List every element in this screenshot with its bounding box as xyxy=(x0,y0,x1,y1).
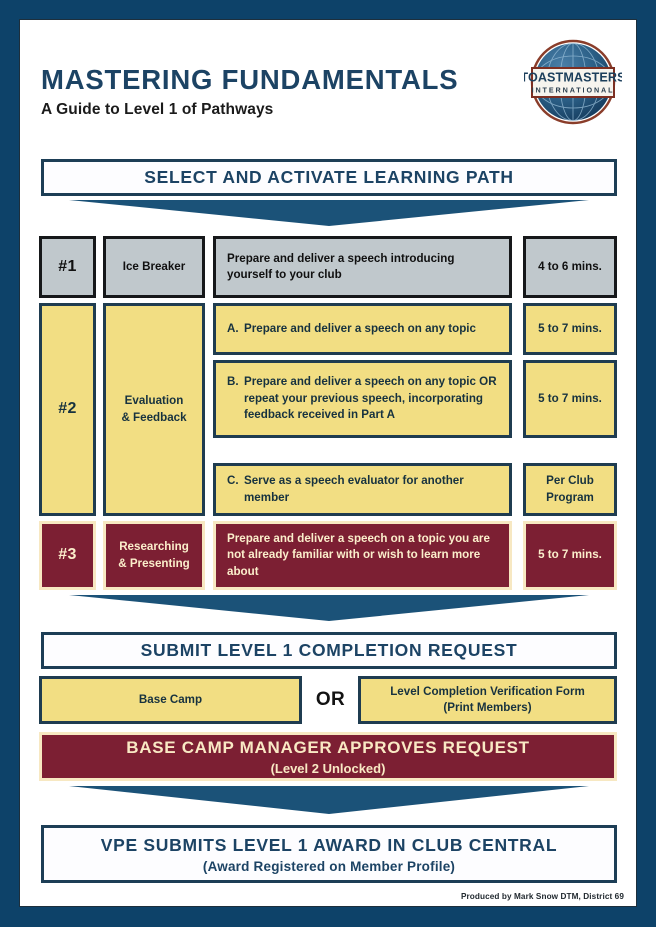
project-3-task-1-text: Prepare and deliver a speech on a topic … xyxy=(213,521,512,590)
logo-primary-text: TOASTMASTERS xyxy=(524,71,622,85)
project-2-task-C-duration-line1: Per Club xyxy=(546,473,594,489)
project-1-task-1-duration: 4 to 6 mins. xyxy=(523,236,617,298)
project-1-number: #1 xyxy=(39,236,96,298)
project-2-task-A-letter: A. xyxy=(227,321,244,337)
project-2-task-C: C. Serve as a speech evaluator for anoth… xyxy=(213,463,512,516)
project-1-name: Ice Breaker xyxy=(103,236,205,298)
project-2-number: #2 xyxy=(39,303,96,516)
project-2-task-C-letter: C. xyxy=(227,473,244,489)
project-3-task-1-duration: 5 to 7 mins. xyxy=(523,521,617,590)
banner-submit-request-label: SUBMIT LEVEL 1 COMPLETION REQUEST xyxy=(141,640,518,661)
project-2-name: Evaluation & Feedback xyxy=(103,303,205,516)
project-3-name-line2: & Presenting xyxy=(118,556,190,572)
page-title: MASTERING FUNDAMENTALS xyxy=(41,66,458,94)
banner-approve-line2: (Level 2 Unlocked) xyxy=(271,761,386,776)
arrow-down-2 xyxy=(69,595,589,621)
globe-icon: TOASTMASTERS INTERNATIONAL xyxy=(524,37,622,127)
arrow-down-3 xyxy=(69,786,589,814)
poster-header: MASTERING FUNDAMENTALS A Guide to Level … xyxy=(20,20,636,140)
submission-option-b-line2: (Print Members) xyxy=(390,700,585,716)
project-2-task-A: A. Prepare and deliver a speech on any t… xyxy=(213,303,512,355)
banner-approve-request: BASE CAMP MANAGER APPROVES REQUEST (Leve… xyxy=(39,732,617,781)
project-2-task-A-text: Prepare and deliver a speech on any topi… xyxy=(244,321,476,337)
project-2-task-B: B. Prepare and deliver a speech on any t… xyxy=(213,360,512,438)
project-2-task-A-duration: 5 to 7 mins. xyxy=(523,303,617,355)
title-block: MASTERING FUNDAMENTALS A Guide to Level … xyxy=(41,66,458,119)
banner-select-path: SELECT AND ACTIVATE LEARNING PATH xyxy=(41,159,617,196)
project-1-task-1-text: Prepare and deliver a speech introducing… xyxy=(213,236,512,298)
project-2-task-B-letter: B. xyxy=(227,374,244,390)
credit-line: Produced by Mark Snow DTM, District 69 xyxy=(461,892,624,901)
project-3-number: #3 xyxy=(39,521,96,590)
toastmasters-logo: TOASTMASTERS INTERNATIONAL xyxy=(524,37,622,127)
banner-vpe-line1: VPE SUBMITS LEVEL 1 AWARD IN CLUB CENTRA… xyxy=(101,835,558,856)
project-2-task-C-text: Serve as a speech evaluator for another … xyxy=(244,473,501,506)
poster-page: MASTERING FUNDAMENTALS A Guide to Level … xyxy=(19,19,637,907)
project-3-name: Researching & Presenting xyxy=(103,521,205,590)
project-2-task-C-duration: Per Club Program xyxy=(523,463,617,516)
arrow-down-1 xyxy=(69,200,589,226)
banner-submit-request: SUBMIT LEVEL 1 COMPLETION REQUEST xyxy=(41,632,617,669)
project-2-task-B-text: Prepare and deliver a speech on any topi… xyxy=(244,374,501,423)
submission-option-base-camp[interactable]: Base Camp xyxy=(39,676,302,724)
project-3-name-line1: Researching xyxy=(118,539,190,555)
banner-vpe-line2: (Award Registered on Member Profile) xyxy=(203,859,455,874)
submission-or-label: OR xyxy=(307,676,354,724)
logo-secondary-text: INTERNATIONAL xyxy=(532,86,615,95)
submission-option-b-line1: Level Completion Verification Form xyxy=(390,684,585,700)
banner-select-path-label: SELECT AND ACTIVATE LEARNING PATH xyxy=(144,167,514,188)
project-2-task-C-duration-line2: Program xyxy=(546,490,594,506)
project-2-name-line1: Evaluation xyxy=(121,393,186,409)
submission-option-verification-form[interactable]: Level Completion Verification Form (Prin… xyxy=(358,676,617,724)
infographic-poster: MASTERING FUNDAMENTALS A Guide to Level … xyxy=(0,0,656,927)
page-subtitle: A Guide to Level 1 of Pathways xyxy=(41,101,458,119)
banner-vpe-submits: VPE SUBMITS LEVEL 1 AWARD IN CLUB CENTRA… xyxy=(41,825,617,883)
project-2-name-line2: & Feedback xyxy=(121,410,186,426)
project-2-task-B-duration: 5 to 7 mins. xyxy=(523,360,617,438)
banner-approve-line1: BASE CAMP MANAGER APPROVES REQUEST xyxy=(126,738,530,758)
